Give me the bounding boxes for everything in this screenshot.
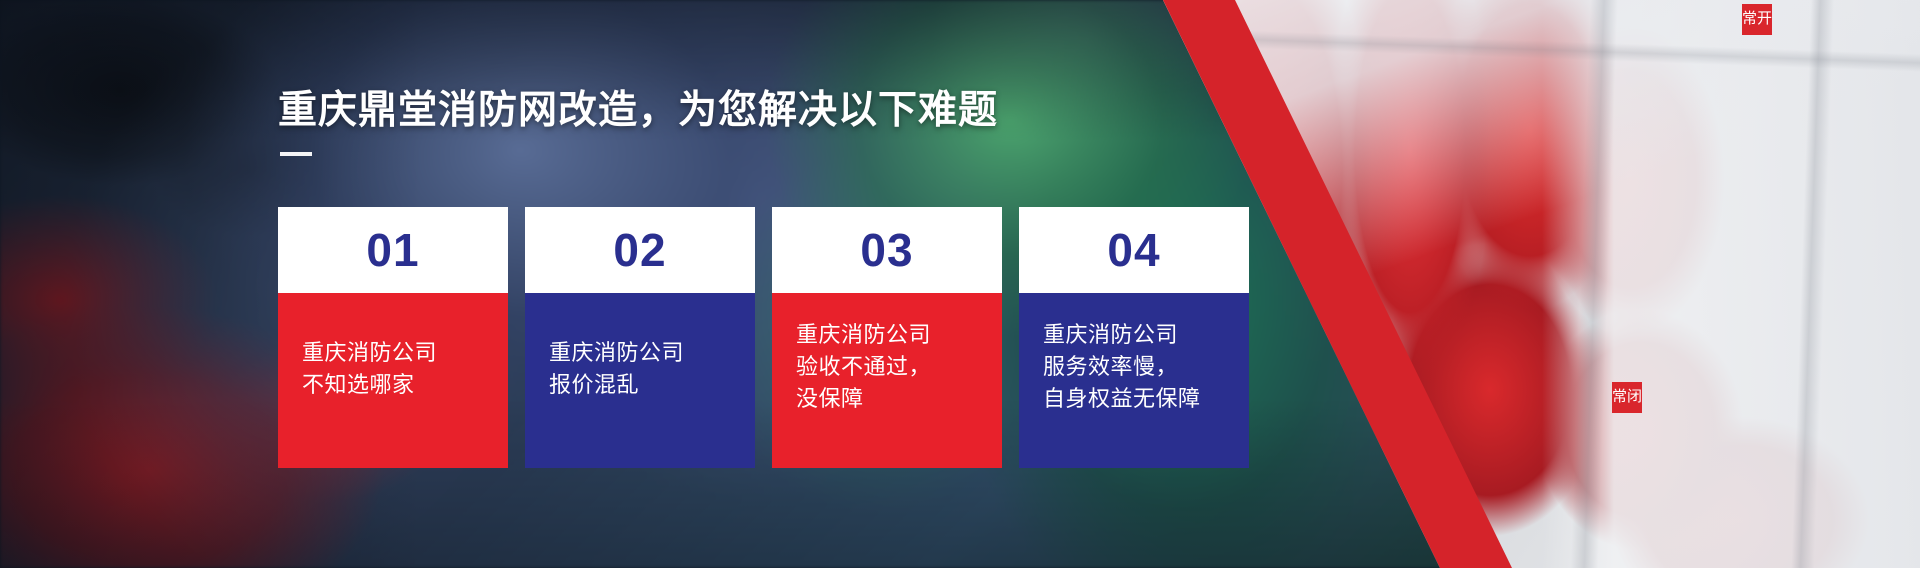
valve-tag-normally-closed-2: 常闭 (1612, 382, 1642, 413)
card-number-01: 01 (278, 207, 508, 293)
card-number-02: 02 (525, 207, 755, 293)
card-text-03: 重庆消防公司 验收不通过， 没保障 (772, 293, 1002, 468)
page-title: 重庆鼎堂消防网改造，为您解决以下难题 (278, 88, 998, 134)
card-text-01: 重庆消防公司 不知选哪家 (278, 293, 508, 468)
card-text-02: 重庆消防公司 报价混乱 (525, 293, 755, 468)
problem-card-03[interactable]: 03 重庆消防公司 验收不通过， 没保障 (772, 207, 1002, 468)
problem-card-list: 01 重庆消防公司 不知选哪家 02 重庆消防公司 报价混乱 03 重庆消防公司… (278, 207, 1249, 468)
card-line: 重庆消防公司 (796, 319, 982, 351)
card-line: 重庆消防公司 (1043, 319, 1229, 351)
card-line: 验收不通过， (796, 351, 982, 383)
valve-tag-normally-open: 常开 (1742, 4, 1772, 35)
card-line: 不知选哪家 (302, 369, 488, 401)
problem-card-04[interactable]: 04 重庆消防公司 服务效率慢， 自身权益无保障 (1019, 207, 1249, 468)
problem-card-02[interactable]: 02 重庆消防公司 报价混乱 (525, 207, 755, 468)
card-text-04: 重庆消防公司 服务效率慢， 自身权益无保障 (1019, 293, 1249, 468)
card-line: 没保障 (796, 383, 982, 415)
card-number-04: 04 (1019, 207, 1249, 293)
title-underline-dash (280, 152, 312, 156)
problem-card-01[interactable]: 01 重庆消防公司 不知选哪家 (278, 207, 508, 468)
card-line: 重庆消防公司 (302, 337, 488, 369)
card-line: 重庆消防公司 (549, 337, 735, 369)
card-line: 服务效率慢， (1043, 351, 1229, 383)
card-line: 自身权益无保障 (1043, 383, 1229, 415)
promo-banner: 常开 常闭 常闭 重庆鼎堂消防网改造，为您解决以下难题 01 重庆消防公司 不知… (0, 0, 1920, 568)
card-line: 报价混乱 (549, 369, 735, 401)
card-number-03: 03 (772, 207, 1002, 293)
